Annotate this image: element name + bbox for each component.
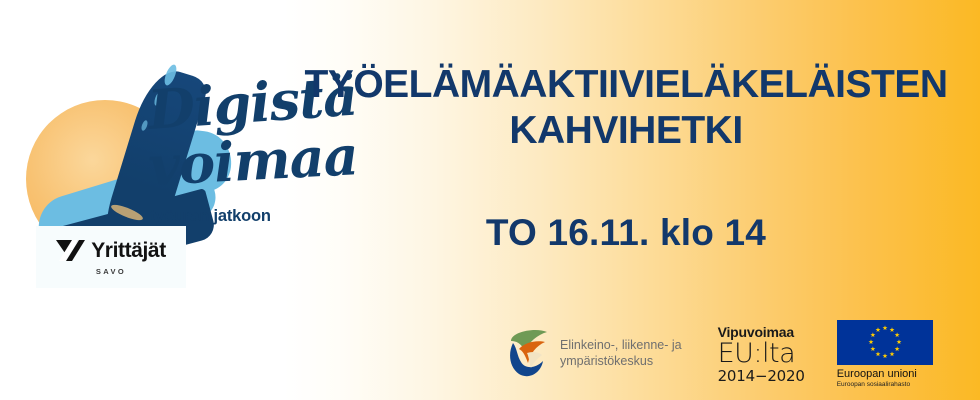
programme-period-label: 2014−2020 [718,367,805,385]
eulta-label: EU:lta [718,340,796,367]
digista-voimaa-logo: Digistä voimaa työuran jatkoon Yrittäjät… [14,58,334,308]
funder-logo-strip: Elinkeino-, liikenne- ja ympäristökeskus… [505,318,970,390]
eu-caption-primary: Euroopan unioni [837,368,917,381]
title-line-1: TYÖELÄMÄAKTIIVIELÄKELÄISTEN [304,63,947,106]
event-banner: Digistä voimaa työuran jatkoon Yrittäjät… [0,0,980,400]
yrittajat-label: Yrittäjät [91,239,166,263]
eu-caption-secondary: Euroopan sosiaalirahasto [837,381,910,388]
ely-keskus-logo: Elinkeino-, liikenne- ja ympäristökeskus [505,329,682,379]
title-line-2: KAHVIHETKI [290,108,962,154]
yrittajat-region-label: SAVO [96,267,126,276]
ely-label-line-2: ympäristökeskus [560,354,682,370]
yrittajat-y-mark-icon [56,239,86,263]
event-datetime: TO 16.11. klo 14 [290,212,962,254]
page-title: TYÖELÄMÄAKTIIVIELÄKELÄISTEN KAHVIHETKI [290,62,962,154]
yrittajat-savo-logo: Yrittäjät SAVO [36,226,186,288]
ely-leaf-icon [505,329,551,379]
ely-label-line-1: Elinkeino-, liikenne- ja [560,338,682,354]
european-union-logo: Euroopan unioni Euroopan sosiaalirahasto [837,320,933,388]
vipuvoimaa-eulta-logo: Vipuvoimaa EU:lta 2014−2020 [718,324,805,385]
ely-keskus-label: Elinkeino-, liikenne- ja ympäristökeskus [560,338,682,369]
eu-flag-icon [837,320,933,365]
